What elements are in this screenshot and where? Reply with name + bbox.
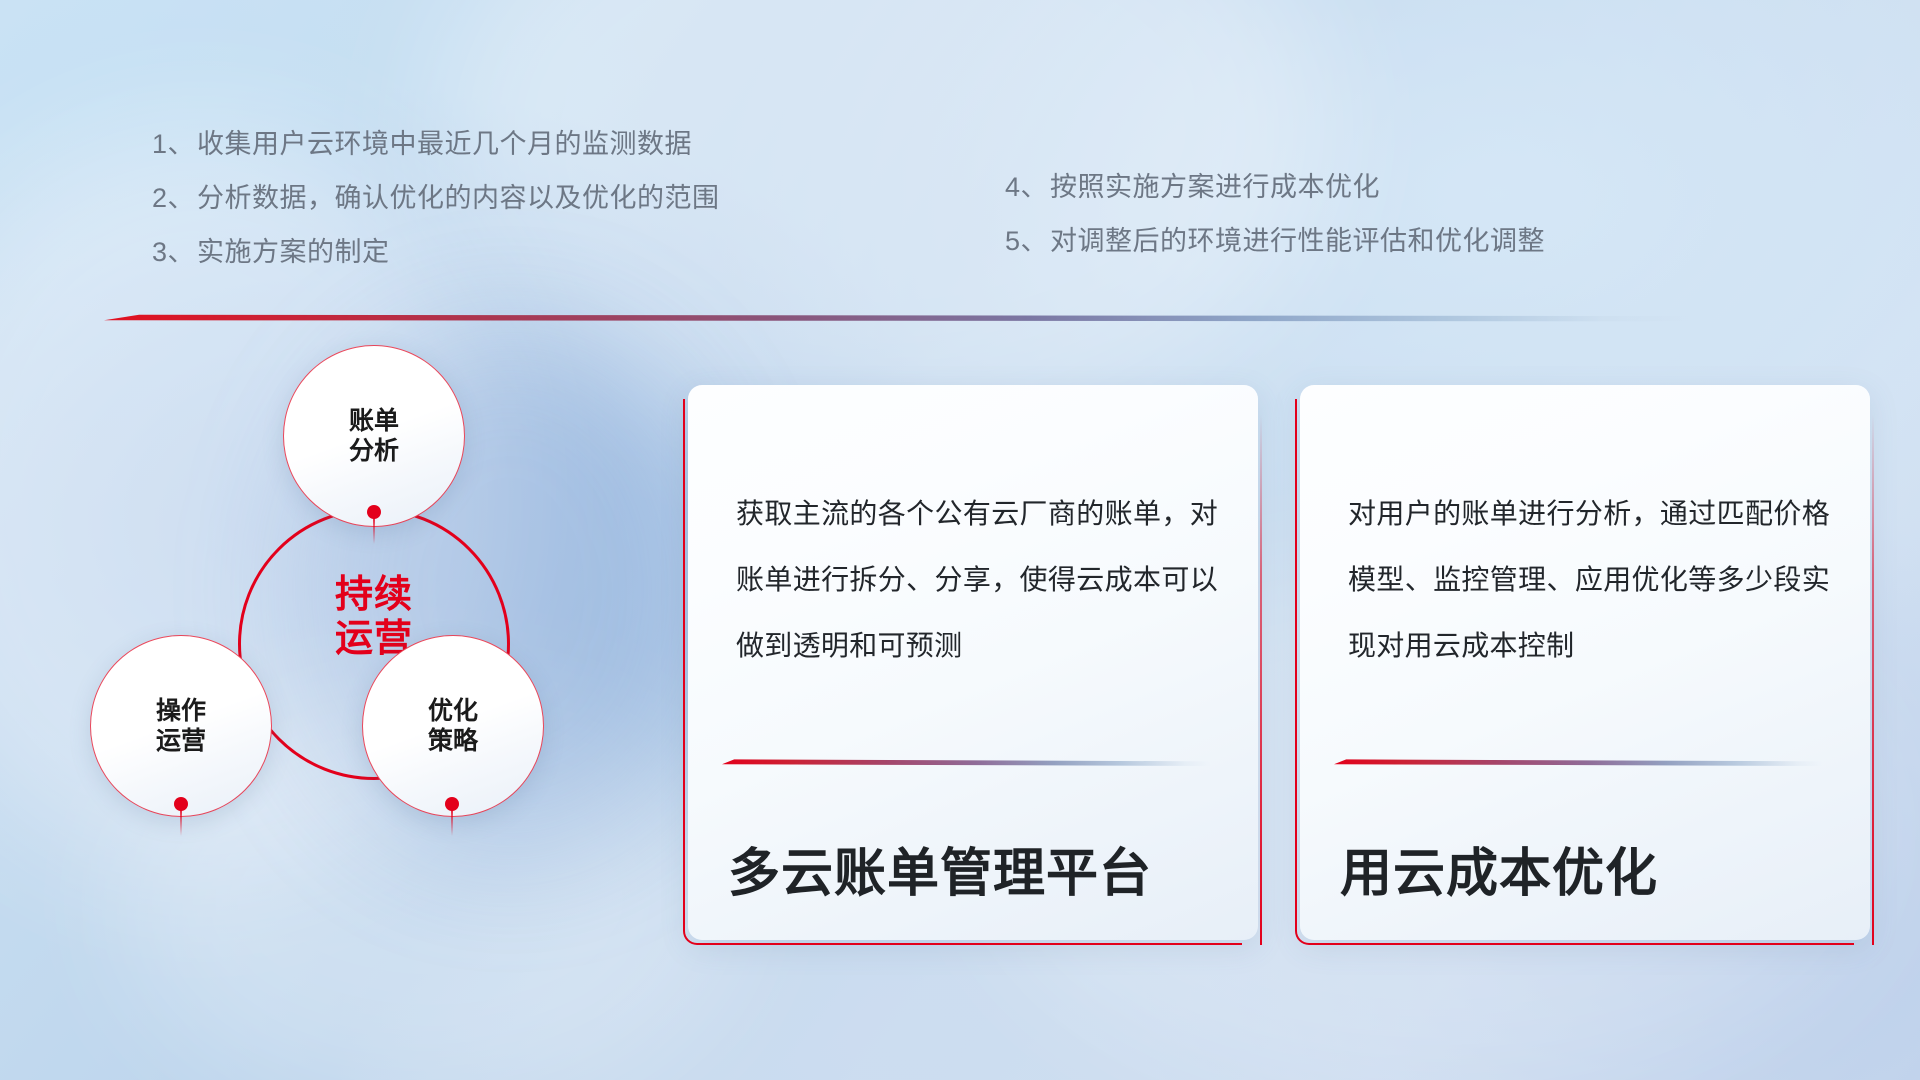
bubble-label-line-2: 策略	[428, 726, 478, 757]
diagram-marker-dot-top	[367, 505, 381, 519]
diagram-marker-tail	[180, 810, 182, 836]
card-body-text: 获取主流的各个公有云厂商的账单，对账单进行拆分、分享，使得云成本可以做到透明和可…	[736, 481, 1218, 678]
center-label-line-1: 持续	[238, 573, 510, 617]
card-multi-cloud-billing[interactable]: 获取主流的各个公有云厂商的账单，对账单进行拆分、分享，使得云成本可以做到透明和可…	[688, 385, 1258, 940]
bubble-label-line-2: 运营	[156, 726, 206, 757]
card-divider-bar	[722, 759, 1210, 768]
card-title: 多云账单管理平台	[728, 831, 1228, 906]
diagram-bubble-optimization-strategy[interactable]: 优化 策略	[362, 635, 544, 817]
bubble-label-line-1: 账单	[349, 406, 399, 437]
card-divider-bar	[1334, 759, 1822, 768]
diagram-marker-dot-right	[445, 797, 459, 811]
card-divider	[722, 759, 1210, 768]
step-item-4: 4、按照实施方案进行成本优化	[1005, 160, 1545, 214]
card-body-text: 对用户的账单进行分析，通过匹配价格模型、监控管理、应用优化等多少段实现对用云成本…	[1348, 481, 1830, 678]
step-number: 2、	[152, 183, 195, 213]
step-text: 收集用户云环境中最近几个月的监测数据	[197, 129, 692, 159]
steps-right-column: 4、按照实施方案进行成本优化 5、对调整后的环境进行性能评估和优化调整	[1005, 160, 1545, 268]
step-text: 按照实施方案进行成本优化	[1050, 172, 1380, 202]
card-cloud-cost-optimization[interactable]: 对用户的账单进行分析，通过匹配价格模型、监控管理、应用优化等多少段实现对用云成本…	[1300, 385, 1870, 940]
card-title: 用云成本优化	[1340, 831, 1840, 906]
card-divider	[1334, 759, 1822, 768]
section-divider-bar	[104, 314, 1700, 324]
step-number: 4、	[1005, 172, 1048, 202]
step-item-2: 2、分析数据，确认优化的内容以及优化的范围	[152, 171, 720, 225]
step-item-3: 3、实施方案的制定	[152, 225, 720, 279]
step-item-1: 1、收集用户云环境中最近几个月的监测数据	[152, 117, 720, 171]
step-number: 3、	[152, 237, 195, 267]
diagram-bubble-bill-analysis[interactable]: 账单 分析	[283, 345, 465, 527]
step-number: 5、	[1005, 226, 1048, 256]
bubble-label-line-1: 优化	[428, 696, 478, 727]
step-text: 对调整后的环境进行性能评估和优化调整	[1050, 226, 1545, 256]
slide-canvas: 1、收集用户云环境中最近几个月的监测数据 2、分析数据，确认优化的内容以及优化的…	[0, 0, 1920, 1080]
step-text: 实施方案的制定	[197, 237, 390, 267]
diagram-bubble-operations[interactable]: 操作 运营	[90, 635, 272, 817]
step-number: 1、	[152, 129, 195, 159]
diagram-marker-tail	[451, 810, 453, 836]
diagram-marker-tail	[373, 518, 375, 544]
section-divider	[104, 314, 1700, 324]
continuous-operations-diagram: 持续 运营 账单 分析 操作 运营 优化 策略	[90, 345, 650, 955]
step-text: 分析数据，确认优化的内容以及优化的范围	[197, 183, 720, 213]
step-item-5: 5、对调整后的环境进行性能评估和优化调整	[1005, 214, 1545, 268]
diagram-marker-dot-left	[174, 797, 188, 811]
steps-left-column: 1、收集用户云环境中最近几个月的监测数据 2、分析数据，确认优化的内容以及优化的…	[152, 117, 720, 279]
bubble-label-line-2: 分析	[349, 436, 399, 467]
bubble-label-line-1: 操作	[156, 696, 206, 727]
